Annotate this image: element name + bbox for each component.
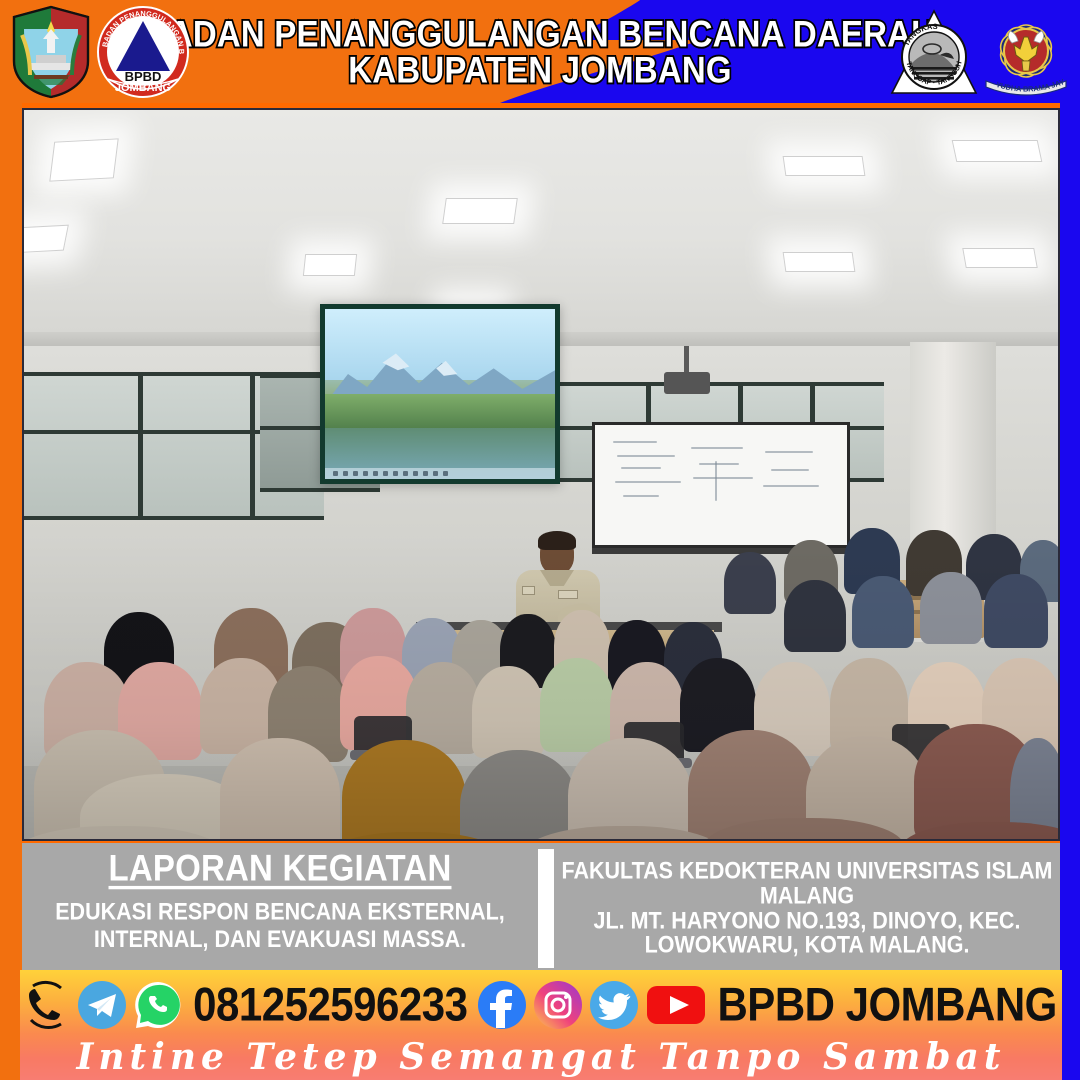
audience-person [852, 576, 914, 648]
caption-subtitle-line1: EDUKASI RESPON BENCANA EKSTERNAL, [55, 899, 505, 926]
activity-photo [22, 108, 1060, 841]
presenter-name-tag [558, 590, 578, 599]
audience-person [342, 740, 466, 841]
audience-person [920, 572, 982, 644]
phone-icon[interactable] [21, 980, 71, 1030]
poster-root: BADAN PENANGGULANGAN BENCANA DAERAH KABU… [0, 0, 1080, 1080]
ceiling-light-panel [962, 248, 1038, 268]
projector-unit [664, 372, 710, 394]
ceiling-light-panel [952, 140, 1043, 162]
whatsapp-icon[interactable] [133, 980, 183, 1030]
ceiling-light-panel [22, 225, 69, 254]
facebook-icon[interactable] [477, 980, 527, 1030]
projector-mount-arm [684, 346, 689, 374]
venue-line-4: LOWOKWARU, KOTA MALANG. [645, 932, 970, 959]
venue-line-3: JL. MT. HARYONO NO.193, DINOYO, KEC. [594, 907, 1021, 934]
ceiling-light-panel [783, 156, 866, 176]
twitter-icon[interactable] [589, 980, 639, 1030]
left-orange-rail [0, 0, 22, 1080]
audience-person [472, 666, 544, 758]
bpbd-jombang-logo-icon: BPBD JOMBANG BADAN PENANGGULANGAN BENCAN… [96, 5, 190, 99]
venue-line-2: MALANG [760, 882, 854, 909]
right-blue-rail [1060, 0, 1080, 1080]
screen-forest [325, 394, 555, 431]
svg-text:JOMBANG: JOMBANG [115, 82, 171, 94]
caption-venue-block: FAKULTAS KEDOKTERAN UNIVERSITAS ISLAM MA… [554, 843, 1060, 970]
screen-taskbar [325, 468, 555, 479]
caption-subtitle: EDUKASI RESPON BENCANA EKSTERNAL, INTERN… [55, 899, 505, 954]
ceiling-light-panel [303, 254, 357, 276]
audience-person [724, 552, 776, 614]
bravo-jatim-logo-icon: YUDHA BRAMA JAYA [980, 5, 1072, 99]
header-banner: BADAN PENANGGULANGAN BENCANA DAERAH KABU… [0, 0, 1080, 103]
caption-panel: LAPORAN KEGIATAN EDUKASI RESPON BENCANA … [22, 843, 1060, 970]
caption-subtitle-line2: INTERNAL, DAN EVAKUASI MASSA. [55, 926, 505, 953]
audience-person [540, 658, 614, 752]
presenter-shoulder-badge [522, 586, 535, 595]
footer-contact-row: 081252596233 [20, 974, 1062, 1036]
footer-contact-bar: 081252596233 [20, 970, 1062, 1080]
venue-line-1: FAKULTAS KEDOKTERAN UNIVERSITAS ISLAM [562, 857, 1053, 884]
footer-tagline: Intine Tetep Semangat Tanpo Sambat [20, 1034, 1062, 1080]
audience-person [984, 574, 1048, 648]
phone-number: 081252596233 [189, 978, 471, 1032]
ceiling-light-panel [783, 252, 856, 272]
presenter-hair [538, 531, 576, 550]
channel-name: BPBD JOMBANG [713, 978, 1060, 1032]
whiteboard [592, 422, 850, 548]
caption-left-block: LAPORAN KEGIATAN EDUKASI RESPON BENCANA … [22, 843, 538, 970]
ceiling-light-panel [49, 138, 118, 181]
caption-divider [538, 849, 554, 968]
jombang-regency-seal-icon [8, 5, 94, 99]
projection-screen [320, 304, 560, 484]
photo-scene [24, 110, 1058, 839]
audience-person [784, 580, 846, 652]
tangkas-tangguh-logo-icon: TANGKAS TANGGAP · TANGGUH [888, 5, 980, 99]
instagram-icon[interactable] [533, 980, 583, 1030]
caption-title: LAPORAN KEGIATAN [109, 847, 452, 890]
audience-person [220, 738, 340, 841]
ceiling-light-panel [442, 198, 518, 224]
youtube-icon[interactable] [645, 980, 707, 1030]
telegram-icon[interactable] [77, 980, 127, 1030]
